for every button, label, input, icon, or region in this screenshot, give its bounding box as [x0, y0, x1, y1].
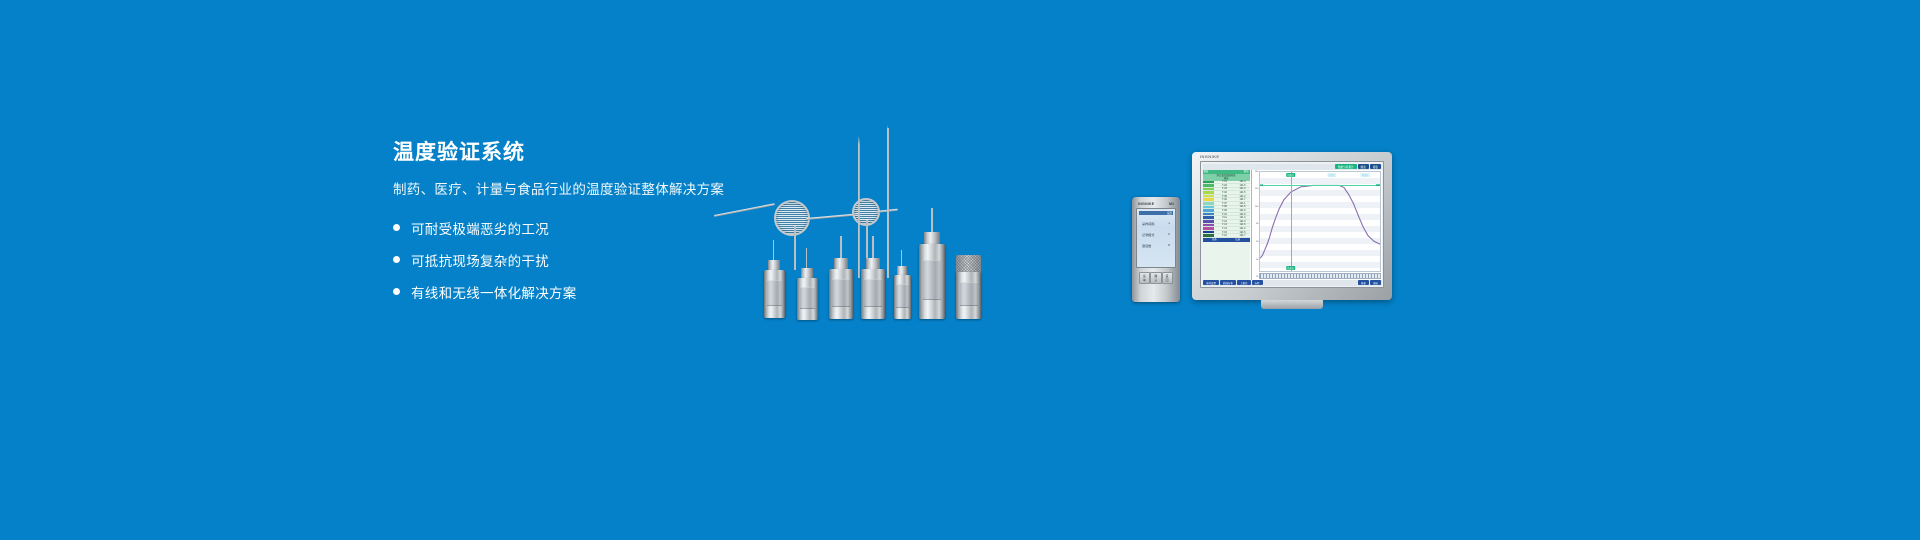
feature-bullet-label: 可耐受极端恶劣的工况: [411, 218, 549, 238]
monitor-brand-label: INGNIKE: [1200, 154, 1219, 159]
bullet-dot-icon: [393, 224, 400, 231]
channel-value: 121.5: [1236, 191, 1250, 194]
channel-name: T-15: [1214, 231, 1236, 234]
monitor-display: INGNIKE 数据分析报告 图表 报表 通道 数值 测点温度曲线列表: [1192, 152, 1392, 300]
cursor-line[interactable]: [1291, 172, 1292, 271]
cursor-tag-bottom: 结束点: [1286, 266, 1296, 270]
status-button-sampling[interactable]: 采样设置: [1203, 280, 1219, 285]
channel-name: T-16: [1214, 234, 1236, 237]
status-button-remove[interactable]: 去除: [1252, 280, 1263, 285]
channel-value: 121.7: [1236, 198, 1250, 201]
channel-value: 121.4: [1236, 180, 1250, 183]
toolbar-spacer: [1203, 164, 1334, 169]
channel-name: T-08: [1214, 205, 1236, 208]
software-window: 数据分析报告 图表 报表 通道 数值 测点温度曲线列表 通道: [1200, 161, 1384, 288]
channel-color-swatch: [1203, 191, 1214, 194]
channel-color-swatch: [1203, 216, 1214, 219]
handheld-screen: 设置 采样间隔 s 记录模式 0 通道数 8: [1136, 208, 1176, 268]
chart-plot-area: A B 起始点 结束点 灭菌段 降温段: [1259, 171, 1381, 272]
handheld-setting-label: 通道数: [1142, 243, 1151, 248]
channel-color-swatch: [1203, 227, 1214, 230]
channel-list-footer[interactable]: 全选 反选: [1203, 238, 1250, 242]
channel-name: T-04: [1214, 191, 1236, 194]
channel-color-swatch: [1203, 209, 1214, 212]
chart-horizontal-scrollbar[interactable]: [1259, 273, 1381, 279]
setpoint-line: [1260, 185, 1380, 186]
channel-color-swatch: [1203, 231, 1214, 234]
temperature-chart: 140 120 100 80 60 40 20: [1251, 170, 1382, 280]
handheld-setting-label: 记录模式: [1142, 232, 1154, 237]
handheld-setting-value: 8: [1168, 243, 1170, 248]
hero-banner: 温度验证系统 制药、医疗、计量与食品行业的温度验证整体解决方案 可耐受极端恶劣的…: [0, 0, 1920, 540]
handheld-key-confirm[interactable]: 确认: [1150, 272, 1161, 284]
channel-value: 121.3: [1236, 187, 1250, 190]
handheld-setting-label: 采样间隔: [1142, 221, 1154, 226]
status-button-analysis[interactable]: 曲线分析: [1220, 280, 1236, 285]
channel-color-swatch: [1203, 195, 1214, 198]
channel-color-swatch: [1203, 198, 1214, 201]
channel-value: 121.2: [1236, 195, 1250, 198]
channel-name: T-10: [1214, 213, 1236, 216]
channel-name: T-13: [1214, 223, 1236, 226]
handheld-setting-row: 记录模式 0: [1139, 232, 1173, 237]
channel-name: T-07: [1214, 202, 1236, 205]
feature-bullet-label: 可抵抗现场复杂的干扰: [411, 250, 549, 270]
channel-value: 121.2: [1236, 227, 1250, 230]
channel-name: T-05: [1214, 195, 1236, 198]
channel-name: T-01: [1214, 180, 1236, 183]
channel-value: 121.1: [1236, 202, 1250, 205]
handheld-brand-label: INGNIKE: [1138, 202, 1154, 206]
channel-name: T-09: [1214, 209, 1236, 212]
channel-value: 121.8: [1236, 205, 1250, 208]
status-button-exit[interactable]: 退出: [1370, 280, 1381, 285]
bullet-dot-icon: [393, 288, 400, 295]
handheld-keypad[interactable]: 菜单 确认 返回: [1136, 268, 1176, 284]
cursor-tag-top: 起始点: [1286, 173, 1296, 177]
app-body: 通道 数值 测点温度曲线列表 通道 T-01 121.4: [1203, 170, 1382, 280]
channel-color-swatch: [1203, 224, 1214, 227]
handheld-setting-row: 采样间隔 s: [1139, 221, 1173, 226]
channel-color-swatch: [1203, 206, 1214, 209]
select-all-button[interactable]: 全选: [1203, 238, 1227, 242]
toolbar-button-chart[interactable]: 图表: [1358, 164, 1369, 169]
handheld-model-label: M1: [1169, 202, 1174, 206]
chart-y-axis: 140 120 100 80 60 40 20: [1252, 170, 1259, 280]
invert-select-button[interactable]: 反选: [1226, 238, 1250, 242]
channel-value: 121.5: [1236, 231, 1250, 234]
channel-name: T-02: [1214, 184, 1236, 187]
handheld-key-back[interactable]: 返回: [1162, 272, 1173, 284]
handheld-key-menu[interactable]: 菜单: [1139, 272, 1150, 284]
segment-tag-2: 降温段: [1360, 173, 1370, 177]
channel-value: 121.4: [1236, 216, 1250, 219]
channel-value: 121.6: [1236, 184, 1250, 187]
statusbar-spacer: [1264, 280, 1357, 285]
channel-value: 121.6: [1236, 223, 1250, 226]
channel-name: T-06: [1214, 198, 1236, 201]
status-button-upload[interactable]: 上报告: [1237, 280, 1251, 285]
channel-name: T-03: [1214, 187, 1236, 190]
channel-color-swatch: [1203, 202, 1214, 205]
handheld-screen-titlebar: 设置: [1139, 211, 1173, 215]
channel-color-swatch: [1203, 188, 1214, 191]
channel-value: 121.9: [1236, 213, 1250, 216]
channel-name: T-11: [1214, 216, 1236, 219]
channel-value: 121.7: [1236, 234, 1250, 237]
channel-list-panel[interactable]: 通道 数值 测点温度曲线列表 通道 T-01 121.4: [1203, 170, 1250, 280]
instrument-group: INGNIKE M1 设置 采样间隔 s 记录模式 0 通道数 8: [900, 110, 1520, 330]
handheld-setting-row: 通道数 8: [1139, 243, 1173, 248]
bullet-dot-icon: [393, 256, 400, 263]
channel-name: T-12: [1214, 220, 1236, 223]
app-status-bar[interactable]: 采样设置 曲线分析 上报告 去除 报表 退出: [1203, 280, 1382, 286]
toolbar-button-report[interactable]: 数据分析报告: [1335, 164, 1357, 169]
channel-color-swatch: [1203, 213, 1214, 216]
channel-color-swatch: [1203, 181, 1214, 184]
channel-name: T-14: [1214, 227, 1236, 230]
channel-color-swatch: [1203, 234, 1214, 237]
channel-color-swatch: [1203, 220, 1214, 223]
monitor-base: [1261, 300, 1323, 309]
handheld-setting-value: s: [1168, 221, 1170, 226]
handheld-setting-value: 0: [1168, 232, 1170, 237]
segment-tag-1: 灭菌段: [1327, 173, 1337, 177]
toolbar-button-table[interactable]: 报表: [1370, 164, 1381, 169]
handheld-reader[interactable]: INGNIKE M1 设置 采样间隔 s 记录模式 0 通道数 8: [1132, 197, 1180, 302]
channel-value: 121.0: [1236, 209, 1250, 212]
channel-value: 121.3: [1236, 220, 1250, 223]
feature-bullet-label: 有线和无线一体化解决方案: [411, 282, 577, 302]
status-button-report[interactable]: 报表: [1358, 280, 1369, 285]
handheld-screen-title: 设置: [1167, 211, 1172, 215]
channel-color-swatch: [1203, 184, 1214, 187]
